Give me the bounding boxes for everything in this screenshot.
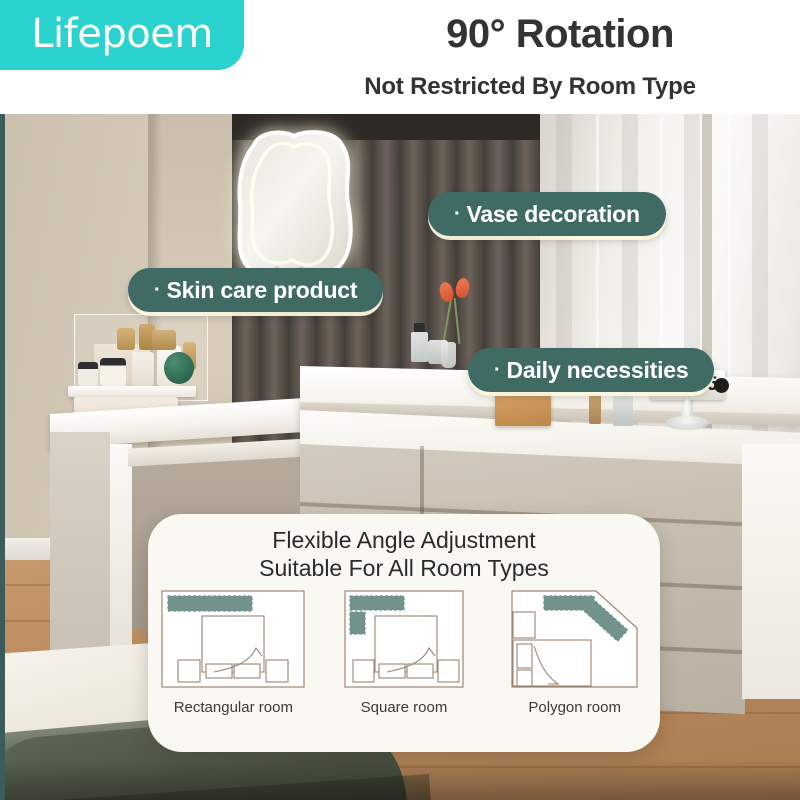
cosmetic-jar xyxy=(152,330,176,350)
bullet-icon: · xyxy=(154,280,160,300)
desk-placement-rect xyxy=(168,596,252,611)
header-bar: Lifepoem 90° Rotation Not Restricted By … xyxy=(0,0,800,114)
diagram-square-room: Square room xyxy=(319,588,490,748)
square-room-drawing xyxy=(329,588,479,692)
diagram-label: Polygon room xyxy=(528,699,621,716)
diagram-label: Rectangular room xyxy=(174,699,293,716)
callout-label: Skin care product xyxy=(166,277,357,304)
callout-vase-decoration: · Vase decoration xyxy=(428,192,666,236)
clock-base xyxy=(665,416,709,430)
page-title: 90° Rotation xyxy=(330,12,790,56)
cosmetic-shelf xyxy=(68,386,196,397)
candle-holder xyxy=(589,394,601,424)
vanity-desk-side-panel xyxy=(50,432,110,652)
wavy-led-mirror xyxy=(232,129,360,284)
cosmetic-jar xyxy=(132,352,154,386)
tissue-box xyxy=(495,392,551,426)
info-card-title-line-1: Flexible Angle Adjustment xyxy=(148,526,660,554)
bullet-icon: · xyxy=(454,204,460,224)
brand-logo-text: Lifepoem xyxy=(31,14,213,57)
dresser-side-panel xyxy=(742,444,800,699)
page-subtitle: Not Restricted By Room Type xyxy=(270,74,790,100)
bullet-icon: · xyxy=(494,360,500,380)
photo-left-edge-strip xyxy=(0,114,5,800)
cosmetic-jar xyxy=(78,362,98,386)
diagram-label: Square room xyxy=(361,699,448,716)
glass-jar xyxy=(428,340,448,364)
diagram-rectangular-room: Rectangular room xyxy=(148,588,319,748)
callout-skin-care-product: · Skin care product xyxy=(128,268,383,312)
product-marketing-image: Lifepoem 90° Rotation Not Restricted By … xyxy=(0,0,800,800)
vanity-desk-leg xyxy=(110,444,132,664)
cosmetic-jar xyxy=(100,358,126,386)
info-card-title-line-2: Suitable For All Room Types xyxy=(148,554,660,582)
info-card-title: Flexible Angle Adjustment Suitable For A… xyxy=(148,526,660,582)
desk-placement-rect xyxy=(350,596,404,610)
diagram-polygon-room: Polygon room xyxy=(489,588,660,748)
callout-label: Daily necessities xyxy=(506,357,688,384)
polygon-room-drawing xyxy=(500,588,650,692)
cosmetic-jar xyxy=(117,328,135,350)
callout-label: Vase decoration xyxy=(466,201,639,228)
info-card: Flexible Angle Adjustment Suitable For A… xyxy=(148,514,660,752)
room-diagram-group: Rectangular room Square room xyxy=(148,588,660,748)
green-marble-jar xyxy=(164,352,194,384)
callout-daily-necessities: · Daily necessities xyxy=(468,348,714,392)
clock-knob xyxy=(714,378,729,393)
reed-diffuser-bottle xyxy=(613,394,633,426)
rectangular-room-drawing xyxy=(158,588,308,692)
mirror-shape xyxy=(232,129,360,284)
photo-bottom-fade xyxy=(0,760,800,800)
brand-logo-badge: Lifepoem xyxy=(0,0,244,70)
perfume-bottle xyxy=(411,332,428,362)
desk-placement-return xyxy=(350,612,365,634)
